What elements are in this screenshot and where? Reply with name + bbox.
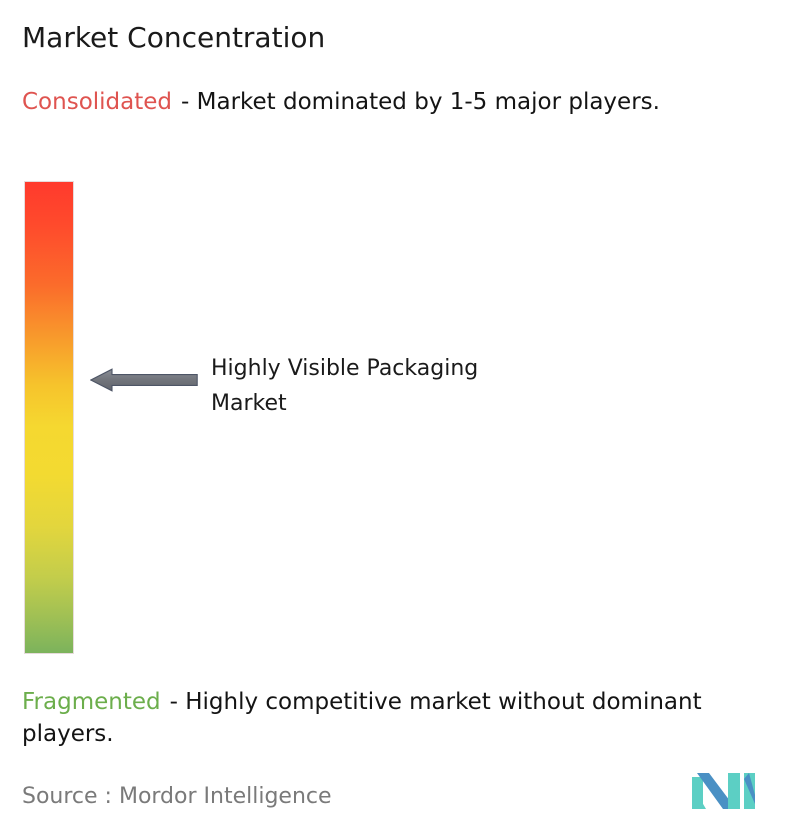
callout-label: Highly Visible Packaging Market bbox=[211, 351, 611, 421]
callout-label-line-2: Market bbox=[211, 386, 611, 421]
callout-label-line-1: Highly Visible Packaging bbox=[211, 351, 611, 386]
legend-keyword-consolidated: Consolidated bbox=[22, 89, 172, 115]
market-concentration-scale-bar bbox=[25, 182, 73, 653]
legend-description-consolidated: - Market dominated by 1-5 major players. bbox=[181, 89, 660, 115]
page-title: Market Concentration bbox=[22, 20, 325, 56]
legend-consolidated: Consolidated- Market dominated by 1-5 ma… bbox=[22, 86, 774, 118]
mordor-intelligence-logo-icon bbox=[692, 771, 762, 809]
legend-keyword-fragmented: Fragmented bbox=[22, 689, 161, 715]
legend-fragmented: Fragmented- Highly competitive market wi… bbox=[22, 686, 782, 750]
source-note: Source : Mordor Intelligence bbox=[22, 782, 332, 812]
arrow-left-icon bbox=[90, 366, 198, 394]
